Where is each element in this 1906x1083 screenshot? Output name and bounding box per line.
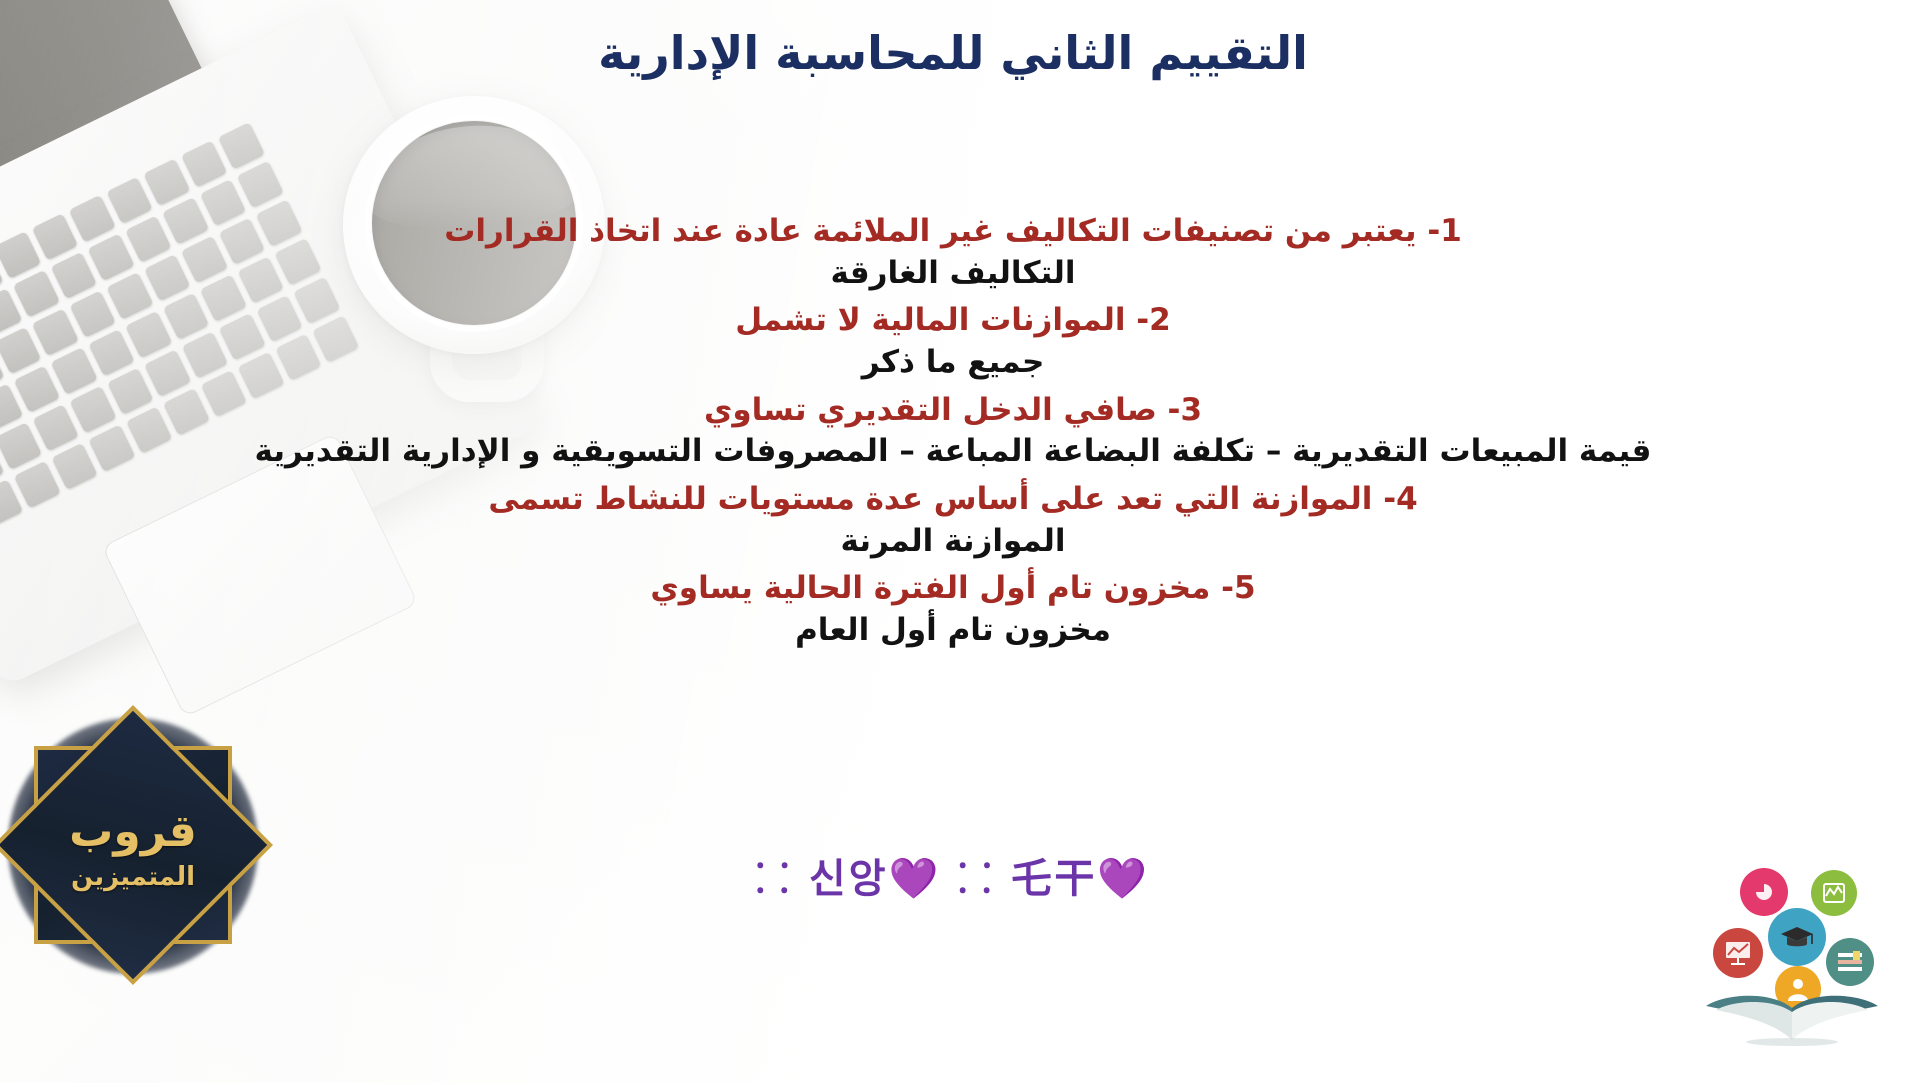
question-text: 3- صافي الدخل التقديري تساوي: [0, 391, 1906, 431]
open-book-icon: [1700, 990, 1884, 1046]
books-icon: [1826, 938, 1874, 986]
answer-text: مخزون تام أول العام: [0, 611, 1906, 651]
badge-line-1: قروب: [8, 810, 258, 854]
group-logo-badge: قروب المتميزين: [8, 718, 258, 974]
slide-content: التقييم الثاني للمحاسبة الإدارية 1- يعتب…: [0, 0, 1906, 1083]
green-chart-icon: [1811, 870, 1857, 916]
qa-item: 4- الموازنة التي تعد على أساس عدة مستويا…: [0, 480, 1906, 561]
badge-text: قروب المتميزين: [8, 810, 258, 892]
qa-item: 3- صافي الدخل التقديري تساوي قيمة المبيع…: [0, 391, 1906, 472]
footer-decoration-text: 💜신앙💜 ⸬ 乇干 ⸬: [0, 846, 1906, 904]
pink-circle-icon: [1740, 868, 1788, 916]
question-text: 4- الموازنة التي تعد على أساس عدة مستويا…: [0, 480, 1906, 520]
answer-text: الموازنة المرنة: [0, 522, 1906, 562]
answer-text: التكاليف الغارقة: [0, 254, 1906, 294]
graduation-cap-icon: [1768, 908, 1826, 966]
page-title: التقييم الثاني للمحاسبة الإدارية: [0, 26, 1906, 81]
qa-item: 1- يعتبر من تصنيفات التكاليف غير الملائم…: [0, 212, 1906, 293]
answer-text: جميع ما ذكر: [0, 343, 1906, 383]
badge-line-2: المتميزين: [8, 862, 258, 892]
question-text: 1- يعتبر من تصنيفات التكاليف غير الملائم…: [0, 212, 1906, 252]
question-text: 5- مخزون تام أول الفترة الحالية يساوي: [0, 569, 1906, 609]
question-text: 2- الموازنات المالية لا تشمل: [0, 301, 1906, 341]
qa-item: 5- مخزون تام أول الفترة الحالية يساوي مخ…: [0, 569, 1906, 650]
qa-item: 2- الموازنات المالية لا تشمل جميع ما ذكر: [0, 301, 1906, 382]
slide-canvas: التقييم الثاني للمحاسبة الإدارية 1- يعتب…: [0, 0, 1906, 1083]
question-answer-list: 1- يعتبر من تصنيفات التكاليف غير الملائم…: [0, 212, 1906, 659]
answer-text: قيمة المبيعات التقديرية – تكلفة البضاعة …: [0, 432, 1906, 472]
presentation-board-icon: [1713, 928, 1763, 978]
education-emblem: [1692, 862, 1892, 1072]
